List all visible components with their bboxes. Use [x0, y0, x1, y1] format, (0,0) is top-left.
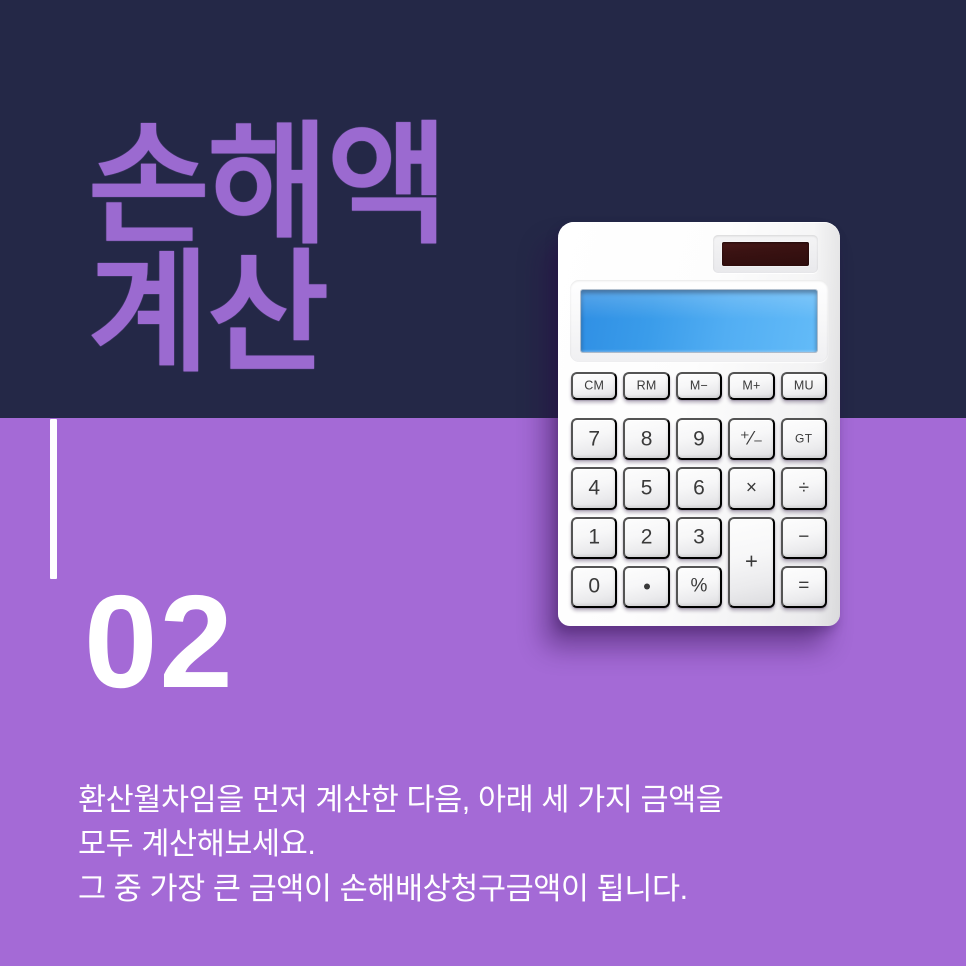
key-equals-label: = — [798, 577, 809, 596]
key-sign[interactable]: ⁺⁄₋ — [728, 418, 774, 460]
key-m-minus[interactable]: M− — [676, 372, 722, 400]
key-5[interactable]: 5 — [623, 467, 669, 509]
keypad: 789⁺⁄₋GT456×÷123+−0%= — [571, 418, 827, 608]
key-cm[interactable]: CM — [571, 372, 617, 400]
key-7[interactable]: 7 — [571, 418, 617, 460]
key-9[interactable]: 9 — [676, 418, 722, 460]
key-4-label: 4 — [588, 477, 600, 498]
key-minus[interactable]: − — [781, 517, 827, 559]
key-mu-label: MU — [794, 379, 814, 392]
key-0[interactable]: 0 — [571, 566, 617, 608]
key-7-label: 7 — [588, 428, 600, 449]
key-1-label: 1 — [588, 527, 600, 548]
key-6-label: 6 — [693, 477, 705, 498]
memory-key-row: CMRMM−M+MU — [571, 372, 827, 400]
key-rm[interactable]: RM — [623, 372, 669, 400]
key-gt[interactable]: GT — [781, 418, 827, 460]
key-9-label: 9 — [693, 428, 705, 449]
step-number: 02 — [84, 576, 235, 708]
key-divide[interactable]: ÷ — [781, 467, 827, 509]
key-4[interactable]: 4 — [571, 467, 617, 509]
key-percent-label: % — [691, 577, 708, 596]
key-gt-label: GT — [795, 433, 813, 445]
key-multiply-label: × — [746, 478, 757, 497]
solar-panel-recess — [713, 235, 818, 273]
key-m-plus[interactable]: M+ — [728, 372, 774, 400]
key-plus[interactable]: + — [728, 517, 774, 609]
key-0-label: 0 — [588, 576, 600, 597]
key-multiply[interactable]: × — [728, 467, 774, 509]
calculator: CMRMM−M+MU 789⁺⁄₋GT456×÷123+−0%= — [558, 222, 840, 626]
key-m-plus-label: M+ — [742, 379, 760, 392]
calculator-display — [581, 290, 817, 352]
key-percent[interactable]: % — [676, 566, 722, 608]
key-2[interactable]: 2 — [623, 517, 669, 559]
display-bezel — [570, 280, 828, 362]
accent-divider — [50, 419, 57, 579]
key-mu[interactable]: MU — [781, 372, 827, 400]
key-8[interactable]: 8 — [623, 418, 669, 460]
key-cm-label: CM — [584, 379, 604, 392]
key-8-label: 8 — [641, 428, 653, 449]
solar-panel-icon — [722, 242, 809, 266]
key-sign-label: ⁺⁄₋ — [740, 429, 763, 448]
slide-card: 손해액 계산 02 환산월차임을 먼저 계산한 다음, 아래 세 가지 금액을 … — [0, 0, 966, 966]
key-plus-label: + — [745, 551, 758, 573]
key-divide-label: ÷ — [799, 478, 809, 497]
page-title: 손해액 계산 — [88, 122, 608, 378]
key-decimal-label — [644, 583, 650, 589]
key-decimal[interactable] — [623, 566, 669, 608]
key-rm-label: RM — [637, 379, 657, 392]
key-3-label: 3 — [693, 527, 705, 548]
body-text: 환산월차임을 먼저 계산한 다음, 아래 세 가지 금액을 모두 계산해보세요.… — [78, 778, 908, 912]
key-2-label: 2 — [641, 527, 653, 548]
key-m-minus-label: M− — [690, 379, 708, 392]
key-equals[interactable]: = — [781, 566, 827, 608]
key-5-label: 5 — [641, 477, 653, 498]
key-3[interactable]: 3 — [676, 517, 722, 559]
key-6[interactable]: 6 — [676, 467, 722, 509]
key-1[interactable]: 1 — [571, 517, 617, 559]
key-minus-label: − — [798, 528, 809, 547]
